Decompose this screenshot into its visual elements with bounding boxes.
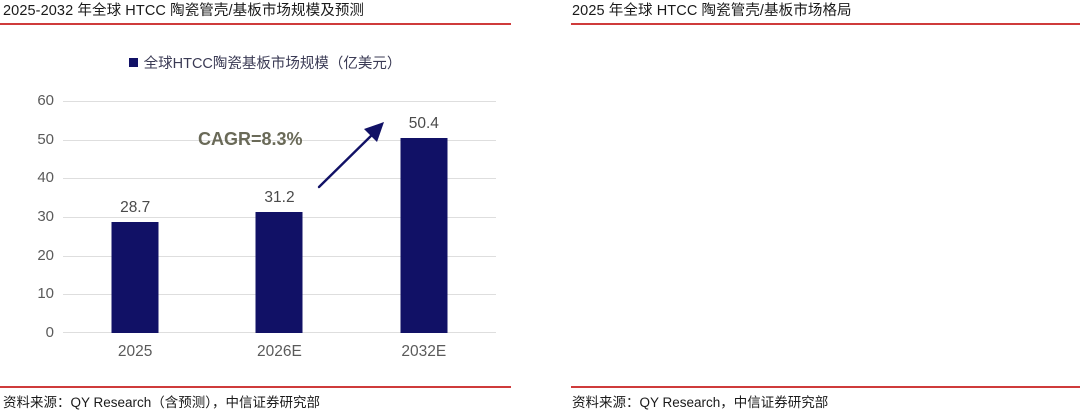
bar-value-label: 31.2 [264, 189, 294, 207]
figure-page: 2025-2032 年全球 HTCC 陶瓷管壳/基板市场规模及预测 全球HTCC… [0, 0, 1080, 417]
bar-chart-legend: 全球HTCC陶瓷基板市场规模（亿美元） [50, 52, 480, 73]
y-tick: 50 [8, 131, 54, 148]
right-panel-title: 2025 年全球 HTCC 陶瓷管壳/基板市场格局 [572, 1, 852, 21]
bar-legend-label: 全球HTCC陶瓷基板市场规模（亿美元） [144, 52, 402, 73]
bar-value-label: 28.7 [120, 199, 150, 217]
left-bottom-rule [0, 386, 511, 388]
bar[interactable] [400, 138, 447, 333]
y-tick: 0 [8, 324, 54, 341]
legend-swatch-icon [129, 58, 138, 67]
right-panel: 2025 年全球 HTCC 陶瓷管壳/基板市场格局 日系厂商（京瓷，NGK/NT… [540, 0, 1080, 417]
bar-chart-y-axis: 0 10 20 30 40 50 60 [8, 101, 54, 333]
bar-group[interactable]: 28.7 [63, 101, 207, 333]
left-panel-title: 2025-2032 年全球 HTCC 陶瓷管壳/基板市场规模及预测 [3, 1, 364, 21]
y-tick: 40 [8, 169, 54, 186]
right-source-note: 资料来源：QY Research，中信证券研究部 [572, 393, 828, 413]
bar[interactable] [112, 222, 159, 333]
left-panel: 2025-2032 年全球 HTCC 陶瓷管壳/基板市场规模及预测 全球HTCC… [0, 0, 540, 417]
left-source-note: 资料来源：QY Research（含预测），中信证券研究部 [3, 393, 320, 413]
bar-value-label: 50.4 [409, 115, 439, 133]
y-tick: 10 [8, 285, 54, 302]
right-bottom-rule [571, 386, 1080, 388]
right-top-rule [571, 23, 1080, 25]
x-tick: 2026E [207, 343, 351, 361]
y-tick: 20 [8, 247, 54, 264]
left-top-rule [0, 23, 511, 25]
y-tick: 30 [8, 208, 54, 225]
cagr-annotation-label: CAGR=8.3% [198, 129, 303, 150]
x-tick: 2025 [63, 343, 207, 361]
bar[interactable] [256, 212, 303, 333]
x-tick: 2032E [352, 343, 496, 361]
cagr-arrow-icon [316, 118, 388, 190]
y-tick: 60 [8, 92, 54, 109]
